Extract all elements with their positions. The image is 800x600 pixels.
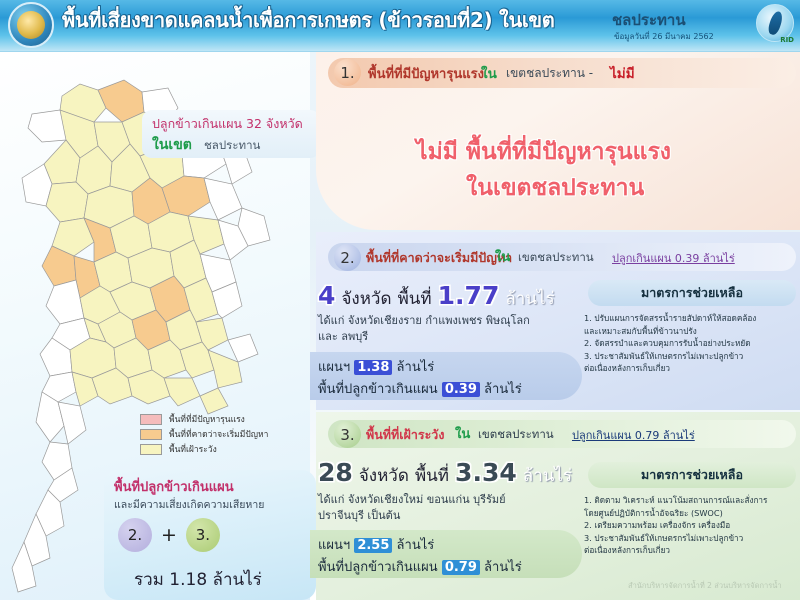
- section2-measure-line-2: และเหมาะสมกับพื้นที่ข้าวนาปรัง: [584, 325, 800, 338]
- section3-overplan-link[interactable]: ปลูกเกินแผน 0.79 ล้านไร่: [572, 426, 695, 444]
- section3-area-unit: ล้านไร่: [523, 466, 572, 486]
- summary-badge-section2: 2.: [118, 518, 152, 552]
- section3-plan-unit: ล้านไร่: [397, 538, 435, 553]
- summary-badges: 2. + 3.: [118, 518, 220, 552]
- summary-line2: และมีความเสี่ยงเกิดความเสียหาย: [114, 496, 264, 513]
- section2-measure-line-1: 1. ปรับแผนการจัดสรรน้ำรายสัปดาห์ให้สอดคล…: [584, 312, 800, 325]
- section3-over-label: พื้นที่ปลูกข้าวเกินแผน: [318, 560, 438, 575]
- section3-area-value: 3.34: [455, 458, 517, 487]
- legend-label-severe: พื้นที่ที่มีปัญหารุนแรง: [169, 412, 245, 426]
- legend-item-severe: พื้นที่ที่มีปัญหารุนแรง: [140, 412, 300, 426]
- legend-label-emerging: พื้นที่ที่คาดว่าจะเริ่มมีปัญหา: [169, 427, 268, 441]
- legend-swatch-emerging: [140, 429, 162, 440]
- section3-measure-line-2: โดยศูนย์ปฏิบัติการน้ำอัจฉริยะ (SWOC): [584, 507, 800, 520]
- section2-area-word: พื้นที่: [398, 289, 432, 309]
- section1-number-badge: 1.: [334, 59, 361, 86]
- summary-badge-section3: 3.: [186, 518, 220, 552]
- section2-plan-unit: ล้านไร่: [397, 360, 435, 375]
- overplant-line1: ปลูกข้าวเกินแผน 32 จังหวัด: [152, 114, 303, 134]
- section2-detail-lines: ได้แก่ จังหวัดเชียงราย กำแพงเพชร พิษณุโล…: [318, 313, 580, 345]
- section2-overplan-link[interactable]: ปลูกเกินแผน 0.39 ล้านไร่: [612, 249, 735, 267]
- section2-area-value: 1.77: [438, 281, 500, 310]
- section2-measures-body: 1. ปรับแผนการจัดสรรน้ำรายสัปดาห์ให้สอดคล…: [584, 312, 800, 375]
- section2-title-green: ใน: [495, 246, 510, 267]
- legend-item-emerging: พื้นที่ที่คาดว่าจะเริ่มมีปัญหา: [140, 427, 300, 441]
- section2-detail-line1: ได้แก่ จังหวัดเชียงราย กำแพงเพชร พิษณุโล…: [318, 313, 580, 329]
- section3-title-red: พื้นที่ที่เฝ้าระวัง: [366, 425, 444, 445]
- section2-province-count: 4: [318, 281, 335, 310]
- summary-line1: พื้นที่ปลูกข้าวเกินแผน: [114, 476, 234, 497]
- thailand-map-panel: ปลูกข้าวเกินแผน 32 จังหวัด ในเขต ชลประทา…: [0, 52, 310, 600]
- overplant-line2-prefix: ในเขต: [152, 134, 192, 156]
- legend-item-watch: พื้นที่เฝ้าระวัง: [140, 442, 300, 456]
- data-date-label: ข้อมูลวันที่ 26 มีนาคม 2562: [614, 30, 714, 43]
- section2-province-word: จังหวัด: [341, 289, 391, 309]
- section2-title-dark: เขตชลประทาน: [518, 249, 594, 267]
- section3-measures-title: มาตรการช่วยเหลือ: [588, 462, 796, 488]
- section3-plan-value: 2.55: [354, 538, 392, 553]
- section2-plan-value: 1.38: [354, 360, 392, 375]
- section3-over-row: พื้นที่ปลูกข้าวเกินแผน 0.79 ล้านไร่: [318, 556, 522, 577]
- section2-plan-row: แผนฯ 1.38 ล้านไร่: [318, 356, 434, 377]
- section1-message-line1: ไม่มี พื้นที่ที่มีปัญหารุนแรง: [416, 134, 671, 170]
- overplant-callout: ปลูกข้าวเกินแผน 32 จังหวัด ในเขต ชลประทา…: [142, 110, 320, 158]
- section3-headline-stat: 28 จังหวัด พื้นที่ 3.34 ล้านไร่: [318, 458, 572, 489]
- section3-province-word: จังหวัด: [359, 466, 409, 486]
- section3-measure-line-1: 1. ติดตาม วิเคราะห์ แนวโน้มสถานการณ์และส…: [584, 494, 800, 507]
- section2-measure-line-4: 3. ประชาสัมพันธ์ให้เกษตรกรไม่เพาะปลูกข้า…: [584, 350, 800, 363]
- section2-measure-line-5: ต่อเนื่องหลังการเก็บเกี่ยว: [584, 362, 800, 375]
- section2-number-badge: 2.: [334, 244, 361, 271]
- section1-title-result: ไม่มี: [610, 62, 635, 84]
- section3-detail-line2: ปราจีนบุรี เป็นต้น: [318, 508, 580, 524]
- section1-message-line2: ในเขตชลประทาน: [466, 170, 644, 206]
- logo-swirl: [767, 10, 785, 36]
- section3-measures-body: 1. ติดตาม วิเคราะห์ แนวโน้มสถานการณ์และส…: [584, 494, 800, 557]
- section2-measure-line-3: 2. จัดสรรบำและควบคุมการรับน้ำอย่างประหยั…: [584, 337, 800, 350]
- section2-measures-title: มาตรการช่วยเหลือ: [588, 280, 796, 306]
- section1-title-red: พื้นที่ที่มีปัญหารุนแรง: [368, 63, 484, 84]
- section3-over-value: 0.79: [442, 560, 480, 575]
- section3-detail-line1: ได้แก่ จังหวัดเชียงใหม่ ขอนแก่น บุรีรัมย…: [318, 492, 580, 508]
- overplant-line2-suffix: ชลประทาน: [204, 137, 260, 155]
- map-legend: พื้นที่ที่มีปัญหารุนแรง พื้นที่ที่คาดว่า…: [140, 412, 300, 457]
- section2-headline-stat: 4 จังหวัด พื้นที่ 1.77 ล้านไร่: [318, 281, 555, 312]
- section2-over-value: 0.39: [442, 382, 480, 397]
- page-header: พื้นที่เสี่ยงขาดแคลนน้ำเพื่อการเกษตร (ข้…: [0, 0, 800, 52]
- section2-over-label: พื้นที่ปลูกข้าวเกินแผน: [318, 382, 438, 397]
- legend-swatch-watch: [140, 444, 162, 455]
- section2-title-red: พื้นที่ที่คาดว่าจะเริ่มมีปัญหา: [366, 248, 512, 268]
- section2-area-unit: ล้านไร่: [505, 289, 554, 309]
- summary-plus-sign: +: [161, 524, 177, 546]
- section3-over-unit: ล้านไร่: [484, 560, 522, 575]
- section3-measure-line-4: 3. ประชาสัมพันธ์ให้เกษตรกรไม่เพาะปลูกข้า…: [584, 532, 800, 545]
- page-title: พื้นที่เสี่ยงขาดแคลนน้ำเพื่อการเกษตร (ข้…: [62, 4, 554, 36]
- section3-number-badge: 3.: [334, 421, 361, 448]
- section2-over-row: พื้นที่ปลูกข้าวเกินแผน 0.39 ล้านไร่: [318, 378, 522, 399]
- section3-detail-lines: ได้แก่ จังหวัดเชียงใหม่ ขอนแก่น บุรีรัมย…: [318, 492, 580, 524]
- seal-inner: [17, 11, 45, 39]
- section3-province-count: 28: [318, 458, 353, 487]
- section3-title-green: ใน: [455, 423, 470, 444]
- section3-plan-row: แผนฯ 2.55 ล้านไร่: [318, 534, 434, 555]
- section3-plan-label: แผนฯ: [318, 538, 350, 553]
- footer-watermark: สำนักบริหารจัดการน้ำที่ 2 ส่วนบริหารจัดก…: [628, 580, 782, 592]
- royal-irrigation-seal-icon: [8, 2, 54, 48]
- section3-measure-line-3: 2. เตรียมความพร้อม เครื่องจักร เครื่องมื…: [584, 519, 800, 532]
- infographic-page: พื้นที่เสี่ยงขาดแคลนน้ำเพื่อการเกษตร (ข้…: [0, 0, 800, 600]
- summary-box: พื้นที่ปลูกข้าวเกินแผน และมีความเสี่ยงเก…: [104, 470, 316, 600]
- section1-title-dark: เขตชลประทาน -: [506, 64, 593, 83]
- section3-area-word: พื้นที่: [415, 466, 449, 486]
- section3-title-dark: เขตชลประทาน: [478, 426, 554, 444]
- legend-swatch-severe: [140, 414, 162, 425]
- section1-title-green: ใน: [481, 62, 497, 84]
- page-title-tail: ชลประทาน: [612, 8, 686, 32]
- logo-wordmark: RID: [780, 36, 794, 44]
- section3-measure-line-5: ต่อเนื่องหลังการเก็บเกี่ยว: [584, 544, 800, 557]
- section2-over-unit: ล้านไร่: [484, 382, 522, 397]
- section2-detail-line2: และ ลพบุรี: [318, 329, 580, 345]
- summary-total: รวม 1.18 ล้านไร่: [134, 566, 262, 593]
- section2-plan-label: แผนฯ: [318, 360, 350, 375]
- legend-label-watch: พื้นที่เฝ้าระวัง: [169, 442, 217, 456]
